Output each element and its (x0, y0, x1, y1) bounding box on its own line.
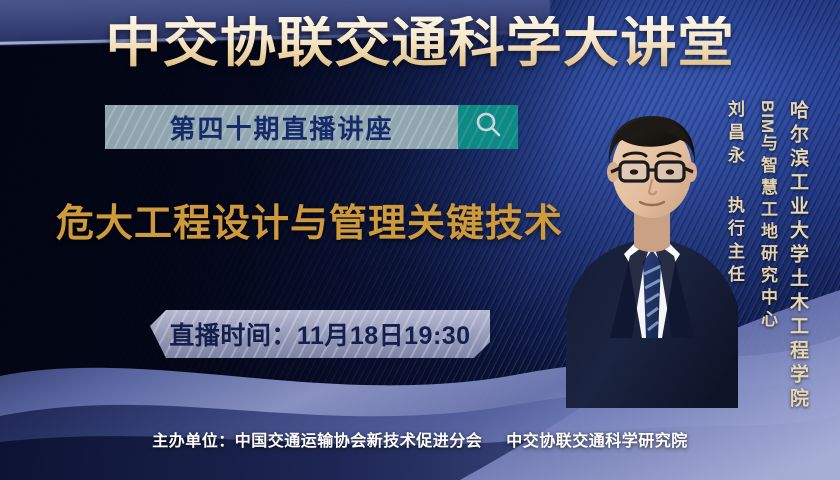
episode-label: 第四十期直播讲座 (169, 109, 393, 146)
speaker-name: 刘昌永 (722, 100, 747, 169)
speaker-research-center-cjk: 与智慧工地研究中心 (758, 134, 777, 332)
organizer-footer: 主办单位：中国交通运输协会新技术促进分会中交协联交通科学研究院 (0, 427, 840, 451)
page-title: 中交协联交通科学大讲堂 (0, 16, 840, 70)
organizer-secondary: 中交协联交通科学研究院 (506, 433, 688, 450)
search-icon-tile[interactable] (458, 105, 518, 149)
speaker-research-center-latin: BIM (758, 100, 777, 134)
organizer-primary: 主办单位：中国交通运输协会新技术促进分会 (152, 433, 482, 450)
speaker-research-center: BIM与智慧工地研究中心 (755, 100, 782, 332)
live-time-badge: 直播时间：11月18日19:30 (150, 310, 490, 358)
speaker-portrait (566, 88, 738, 408)
episode-banner: 第四十期直播讲座 (105, 105, 518, 149)
speaker-affiliation: 哈尔滨工业大学土木工程学院 (784, 100, 811, 412)
lecture-headline: 危大工程设计与管理关键技术 (56, 192, 563, 247)
live-time-text: 直播时间：11月18日19:30 (169, 316, 470, 352)
webinar-poster: 中交协联交通科学大讲堂 第四十期直播讲座 危大工程设计与管理关键技术 直播时间：… (0, 0, 840, 480)
search-icon (473, 110, 503, 145)
speaker-role: 执行主任 (722, 196, 747, 288)
episode-banner-body: 第四十期直播讲座 (105, 105, 458, 149)
